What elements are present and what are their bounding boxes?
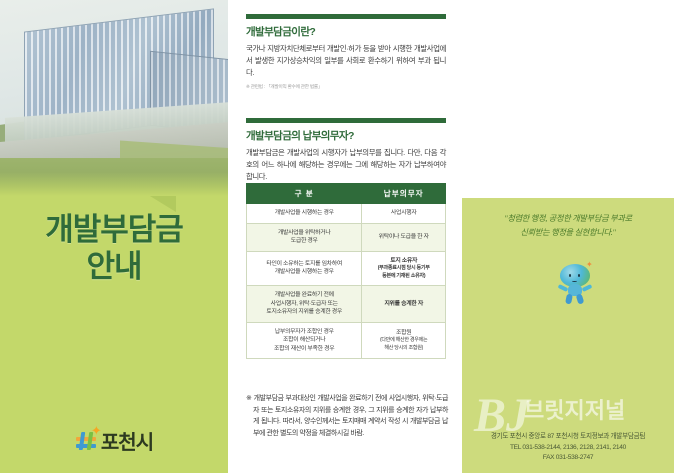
table-row: 개발사업을 시행하는 경우사업시행자: [247, 204, 446, 224]
hash-logo-icon: ✦: [75, 430, 97, 452]
pocheon-city-logo: ✦ 포천시: [0, 426, 228, 455]
back-panel: "청렴한 행정, 공정한 개발부담금 부과로 신뢰받는 행정을 실현합니다." …: [462, 198, 674, 473]
table-cell-payer: 위탁이나 도급을 한 자: [362, 223, 446, 251]
contact-block: 경기도 포천시 중앙로 87 포천시청 토지정보과 개발부담금팀 TEL 031…: [462, 432, 674, 464]
section1-legal-note: ※ 관련법 : 「개발이익 환수에 관한 법률」: [246, 84, 446, 90]
table-header-case: 구 분: [247, 184, 362, 204]
table-header-row: 구 분 납부의무자: [247, 184, 446, 204]
section2-body: 개발부담금은 개발사업의 시행자가 납부의무를 집니다. 다만, 다음 각 호의…: [246, 147, 446, 183]
table-cell-case: 개발사업을 시행하는 경우: [247, 204, 362, 224]
mascot-character-icon: ✦: [558, 262, 592, 306]
table-cell-case: 납부의무자가 조합인 경우조합이 해산되거나조합의 재산이 부족한 경우: [247, 322, 362, 359]
section2-heading: 개발부담금의 납부의무자?: [246, 128, 446, 143]
brochure-page: 개발부담금 안내 ✦ 포천시 개발부담금이란? 국가나 지방자치단체로부터 개발…: [0, 0, 674, 473]
table-cell-case: 타인이 소유하는 토지를 임차하여개발사업을 시행하는 경우: [247, 251, 362, 285]
table-row: 개발사업을 완료하기 전에사업시행자, 위탁·도급자 또는토지소유자의 지위를 …: [247, 286, 446, 323]
section-who-pays: 개발부담금의 납부의무자? 개발부담금은 개발사업의 시행자가 납부의무를 집니…: [246, 118, 446, 183]
table-row: 개발사업을 위탁하거나도급한 경우위탁이나 도급을 한 자: [247, 223, 446, 251]
star-icon: ✦: [91, 424, 102, 437]
table-cell-case: 개발사업을 완료하기 전에사업시행자, 위탁·도급자 또는토지소유자의 지위를 …: [247, 286, 362, 323]
table-header-payer: 납부의무자: [362, 184, 446, 204]
cover-panel: 개발부담금 안내 ✦ 포천시: [0, 0, 228, 473]
section1-body: 국가나 지방자치단체로부터 개발인·허가 등을 받아 시행한 개발사업에서 발생…: [246, 43, 446, 79]
city-name-label: 포천시: [101, 426, 153, 455]
table-cell-payer: 지위를 승계한 자: [362, 286, 446, 323]
cover-title-line1: 개발부담금: [45, 212, 183, 247]
content-footnote: ※ 개발부담금 부과대상인 개발사업을 완료하기 전에 사업시행자, 위탁·도급…: [246, 393, 448, 439]
table-row: 납부의무자가 조합인 경우조합이 해산되거나조합의 재산이 부족한 경우조합원(…: [247, 322, 446, 359]
section-rule: [246, 14, 446, 19]
table-row: 타인이 소유하는 토지를 임차하여개발사업을 시행하는 경우토지 소유자(부과종…: [247, 251, 446, 285]
contact-tel[interactable]: TEL 031-538-2144, 2136, 2128, 2141, 2140: [462, 443, 674, 454]
contact-address: 경기도 포천시 중앙로 87 포천시청 토지정보과 개발부담금팀: [462, 432, 674, 443]
table-cell-payer: 토지 소유자(부과종료시점 당시 등기부등본에 기재된 소유자): [362, 251, 446, 285]
section1-heading: 개발부담금이란?: [246, 24, 446, 39]
table-cell-payer: 사업시행자: [362, 204, 446, 224]
slogan-line1: "청렴한 행정, 공정한 개발부담금 부과로: [470, 212, 666, 226]
section-rule: [246, 118, 446, 123]
section-what-is: 개발부담금이란? 국가나 지방자치단체로부터 개발인·허가 등을 받아 시행한 …: [246, 14, 446, 90]
ribbon-notch-shape: [150, 196, 176, 212]
table-cell-case: 개발사업을 위탁하거나도급한 경우: [247, 223, 362, 251]
slogan-text: "청렴한 행정, 공정한 개발부담금 부과로 신뢰받는 행정을 실현합니다.": [470, 212, 666, 241]
cover-title: 개발부담금 안내: [0, 212, 228, 285]
table-cell-payer: 조합원(다만에 해산한 경우에는해산 당시의 조합원): [362, 322, 446, 359]
payer-table: 구 분 납부의무자 개발사업을 시행하는 경우사업시행자개발사업을 위탁하거나도…: [246, 183, 446, 359]
city-hall-photo: [0, 0, 228, 198]
contact-fax: FAX 031-538-2747: [462, 453, 674, 464]
slogan-line2: 신뢰받는 행정을 실현합니다.": [470, 226, 666, 240]
content-panel: 개발부담금이란? 국가나 지방자치단체로부터 개발인·허가 등을 받아 시행한 …: [246, 0, 454, 473]
cover-title-line2: 안내: [0, 249, 228, 286]
photo-fade-overlay: [0, 172, 228, 198]
